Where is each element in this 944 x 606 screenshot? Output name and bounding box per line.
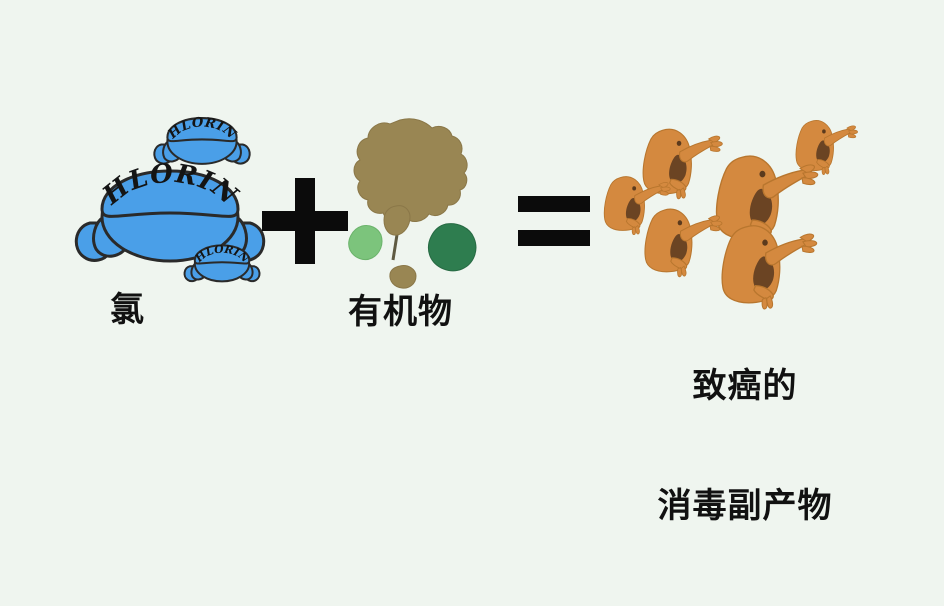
dbp-creature-group — [600, 118, 850, 293]
chlorine-figure-svg: CHLORINE — [182, 243, 262, 287]
label-organic-matter: 有机物 — [348, 292, 453, 332]
blob-large-brown — [354, 119, 467, 222]
label-dbp: 致癌的 消毒副产物 — [658, 286, 833, 606]
equals-top-bar — [518, 196, 590, 212]
chlorine-figure-small-bottom: CHLORINE — [182, 243, 262, 287]
blob-light-green — [349, 225, 382, 259]
equals-bottom-bar — [518, 230, 590, 246]
blob-small-brown — [390, 266, 416, 289]
label-chlorine: 氯 — [110, 290, 145, 330]
organic-matter-group — [340, 118, 505, 293]
label-dbp-line2: 消毒副产物 — [658, 486, 833, 526]
label-dbp-line1: 致癌的 — [658, 366, 833, 406]
plus-vertical-bar — [295, 178, 315, 264]
dbp-creatures-svg — [600, 118, 850, 298]
slide-canvas: CHLORINE CHLORINE — [0, 0, 944, 525]
blob-dark-green — [428, 224, 475, 271]
plus-sign-icon — [262, 178, 348, 264]
creature-5 — [645, 209, 722, 277]
organic-matter-svg — [340, 118, 505, 293]
chlorine-molecule-group: CHLORINE CHLORINE — [70, 115, 270, 295]
equals-sign-icon — [518, 196, 590, 248]
blob-stem-brown — [384, 206, 410, 235]
